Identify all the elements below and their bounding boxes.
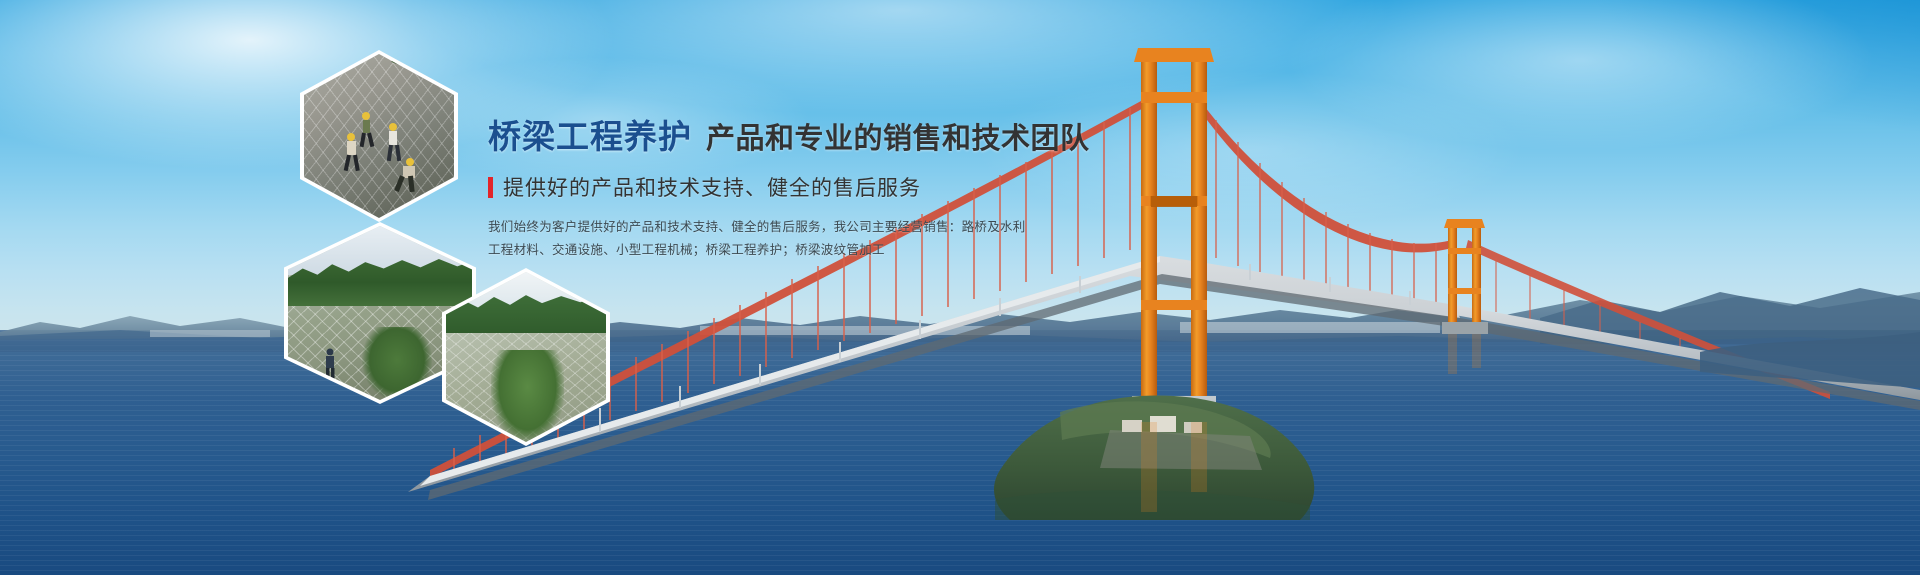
hex-photo-1-frame [300, 50, 458, 222]
headline: 桥梁工程养护产品和专业的销售和技术团队 [488, 120, 1088, 154]
hex-photo-1 [304, 54, 454, 218]
subheadline-row: 提供好的产品和技术支持、健全的售后服务 [488, 172, 1088, 202]
banner-copy: 桥梁工程养护产品和专业的销售和技术团队 提供好的产品和技术支持、健全的售后服务 … [488, 120, 1088, 265]
description-line-2: 工程材料、交通设施、小型工程机械；桥梁工程养护；桥梁波纹管加工 [488, 241, 1088, 260]
headline-secondary: 产品和专业的销售和技术团队 [706, 123, 1090, 155]
workers-illustration [304, 54, 454, 218]
red-accent-bar [488, 177, 493, 198]
tower-sign [1151, 196, 1197, 207]
headline-primary: 桥梁工程养护 [488, 118, 692, 155]
bridge-main-tower [1132, 48, 1216, 422]
description-paragraph: 我们始终为客户提供好的产品和技术支持、健全的售后服务，我公司主要经营销售：路桥及… [488, 218, 1088, 261]
hero-banner: 桥梁工程养护产品和专业的销售和技术团队 提供好的产品和技术支持、健全的售后服务 … [0, 0, 1920, 575]
subheadline-text: 提供好的产品和技术支持、健全的售后服务 [503, 172, 921, 202]
description-line-1: 我们始终为客户提供好的产品和技术支持、健全的售后服务，我公司主要经营销售：路桥及… [488, 218, 1088, 237]
